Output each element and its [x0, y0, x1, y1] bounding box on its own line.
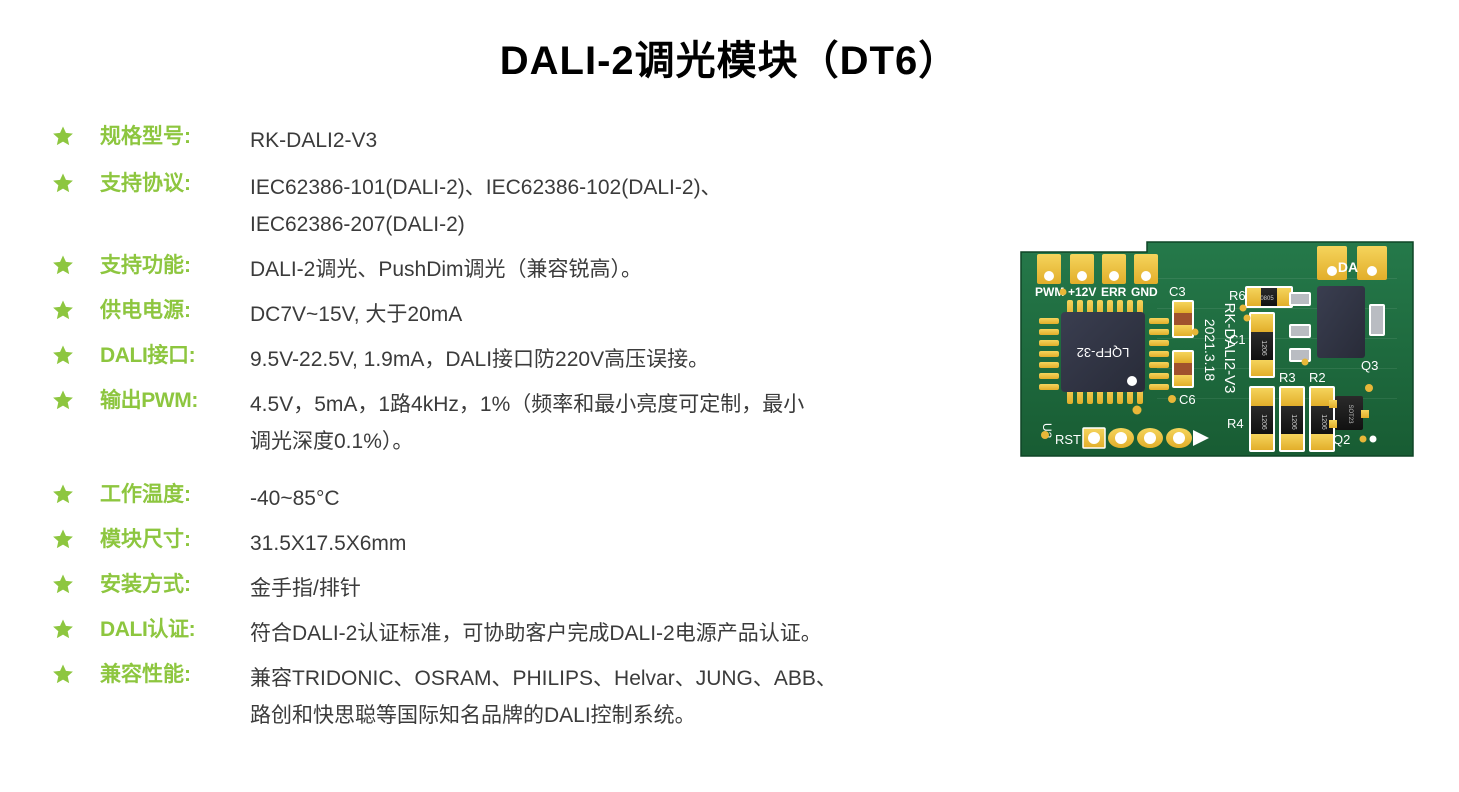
spec-value-power-supply: DC7V~15V, 大于20mA [250, 296, 992, 333]
star-bullet [52, 660, 100, 690]
board-date-text: 2021.3.18 [1202, 319, 1218, 381]
spec-value-model: RK-DALI2-V3 [250, 122, 992, 159]
spec-value-line: 金手指/排针 [250, 570, 992, 607]
spec-label-dali-interface: DALI接口: [100, 341, 250, 371]
star-icon [52, 528, 74, 550]
spec-value-module-size: 31.5X17.5X6mm [250, 525, 992, 562]
spec-row-module-size: 模块尺寸: 31.5X17.5X6mm [52, 525, 992, 562]
spec-value-dali-interface: 9.5V-22.5V, 1.9mA，DALI接口防220V高压误接。 [250, 341, 992, 378]
spec-label-pwm-output: 输出PWM: [100, 386, 250, 416]
svg-text:C3: C3 [1169, 284, 1186, 299]
board-id-text: RK-DALI2-V3 [1221, 303, 1238, 394]
pcb-board: PWM +12V ERR GND [1017, 238, 1417, 462]
svg-text:GND: GND [1131, 285, 1158, 299]
spec-label-operating-temperature: 工作温度: [100, 480, 250, 510]
spec-row-power-supply: 供电电源: DC7V~15V, 大于20mA [52, 296, 992, 333]
spec-label-model: 规格型号: [100, 122, 250, 152]
spec-row-pwm-output: 输出PWM: 4.5V，5mA，1路4kHz，1%（频率和最小亮度可定制，最小 … [52, 386, 992, 460]
dali-pad-label: DA [1338, 259, 1358, 275]
svg-text:R6: R6 [1229, 288, 1246, 303]
svg-text:C6: C6 [1179, 392, 1196, 407]
spec-label-mounting: 安装方式: [100, 570, 250, 600]
spec-value-mounting: 金手指/排针 [250, 570, 992, 607]
svg-text:1206: 1206 [1320, 414, 1327, 430]
star-icon [52, 663, 74, 685]
svg-text:Q3: Q3 [1361, 358, 1378, 373]
svg-text:R2: R2 [1309, 370, 1326, 385]
star-bullet [52, 570, 100, 600]
svg-text:RST: RST [1055, 432, 1081, 447]
svg-text:R3: R3 [1279, 370, 1296, 385]
spec-value-line: 9.5V-22.5V, 1.9mA，DALI接口防220V高压误接。 [250, 341, 992, 378]
star-bullet [52, 341, 100, 371]
spec-value-compatibility: 兼容TRIDONIC、OSRAM、PHILIPS、Helvar、JUNG、ABB… [250, 660, 992, 734]
spec-row-protocols: 支持协议: IEC62386-101(DALI-2)、IEC62386-102(… [52, 169, 992, 243]
spec-label-compatibility: 兼容性能: [100, 660, 250, 690]
star-icon [52, 125, 74, 147]
chip-label: LQFP-32 [1077, 345, 1130, 360]
spec-label-module-size: 模块尺寸: [100, 525, 250, 555]
product-pcb-image: PWM +12V ERR GND [1017, 238, 1417, 462]
svg-text:ERR: ERR [1101, 285, 1127, 299]
spec-row-operating-temperature: 工作温度: -40~85°C [52, 480, 992, 517]
spec-value-pwm-output: 4.5V，5mA，1路4kHz，1%（频率和最小亮度可定制，最小 调光深度0.1… [250, 386, 992, 460]
star-icon [52, 573, 74, 595]
spec-row-dali-certification: DALI认证: 符合DALI-2认证标准，可协助客户完成DALI-2电源产品认证… [52, 615, 992, 652]
spec-label-functions: 支持功能: [100, 251, 250, 281]
star-icon [52, 483, 74, 505]
star-bullet [52, 525, 100, 555]
star-icon [52, 299, 74, 321]
page-title: DALI-2调光模块（DT6） [0, 28, 1459, 86]
spec-value-line: 路创和快思聪等国际知名品牌的DALI控制系统。 [250, 697, 992, 734]
spec-value-line: DALI-2调光、PushDim调光（兼容锐高）。 [250, 251, 992, 288]
spec-value-line: 兼容TRIDONIC、OSRAM、PHILIPS、Helvar、JUNG、ABB… [250, 660, 992, 697]
spec-label-power-supply: 供电电源: [100, 296, 250, 326]
star-icon [52, 389, 74, 411]
svg-text:1206: 1206 [1260, 340, 1267, 356]
svg-text:1206: 1206 [1290, 414, 1297, 430]
spec-row-model: 规格型号: RK-DALI2-V3 [52, 122, 992, 159]
star-bullet [52, 251, 100, 281]
spec-row-mounting: 安装方式: 金手指/排针 [52, 570, 992, 607]
svg-text:0805: 0805 [1260, 296, 1274, 302]
star-icon [52, 254, 74, 276]
star-bullet [52, 296, 100, 326]
star-bullet [52, 122, 100, 152]
svg-text:1206: 1206 [1260, 414, 1267, 430]
star-icon [52, 344, 74, 366]
spec-value-protocols: IEC62386-101(DALI-2)、IEC62386-102(DALI-2… [250, 169, 992, 243]
spec-value-functions: DALI-2调光、PushDim调光（兼容锐高）。 [250, 251, 992, 288]
star-bullet [52, 169, 100, 199]
star-icon [52, 618, 74, 640]
svg-text:R4: R4 [1227, 416, 1244, 431]
svg-text:SOT23: SOT23 [1347, 404, 1353, 424]
spec-value-line: RK-DALI2-V3 [250, 122, 992, 159]
spec-value-dali-certification: 符合DALI-2认证标准，可协助客户完成DALI-2电源产品认证。 [250, 615, 992, 652]
svg-text:+12V: +12V [1068, 285, 1096, 299]
spec-value-line: 调光深度0.1%）。 [250, 423, 992, 460]
star-bullet [52, 386, 100, 416]
star-icon [52, 172, 74, 194]
spec-label-protocols: 支持协议: [100, 169, 250, 199]
star-bullet [52, 615, 100, 645]
spec-value-line: 4.5V，5mA，1路4kHz，1%（频率和最小亮度可定制，最小 [250, 386, 992, 423]
svg-text:C1: C1 [1229, 332, 1246, 347]
spec-value-line: -40~85°C [250, 480, 992, 517]
specification-list: 规格型号: RK-DALI2-V3 支持协议: IEC62386-101(DAL… [52, 122, 992, 742]
spec-value-line: IEC62386-207(DALI-2) [250, 206, 992, 243]
spec-label-dali-certification: DALI认证: [100, 615, 250, 645]
svg-text:Q2: Q2 [1333, 432, 1350, 447]
spec-value-line: 31.5X17.5X6mm [250, 525, 992, 562]
star-bullet [52, 480, 100, 510]
spec-value-line: DC7V~15V, 大于20mA [250, 296, 992, 333]
spec-value-operating-temperature: -40~85°C [250, 480, 992, 517]
spec-value-line: IEC62386-101(DALI-2)、IEC62386-102(DALI-2… [250, 169, 992, 206]
spec-row-functions: 支持功能: DALI-2调光、PushDim调光（兼容锐高）。 [52, 251, 992, 288]
spec-value-line: 符合DALI-2认证标准，可协助客户完成DALI-2电源产品认证。 [250, 615, 992, 652]
spec-row-dali-interface: DALI接口: 9.5V-22.5V, 1.9mA，DALI接口防220V高压误… [52, 341, 992, 378]
spec-row-compatibility: 兼容性能: 兼容TRIDONIC、OSRAM、PHILIPS、Helvar、JU… [52, 660, 992, 734]
